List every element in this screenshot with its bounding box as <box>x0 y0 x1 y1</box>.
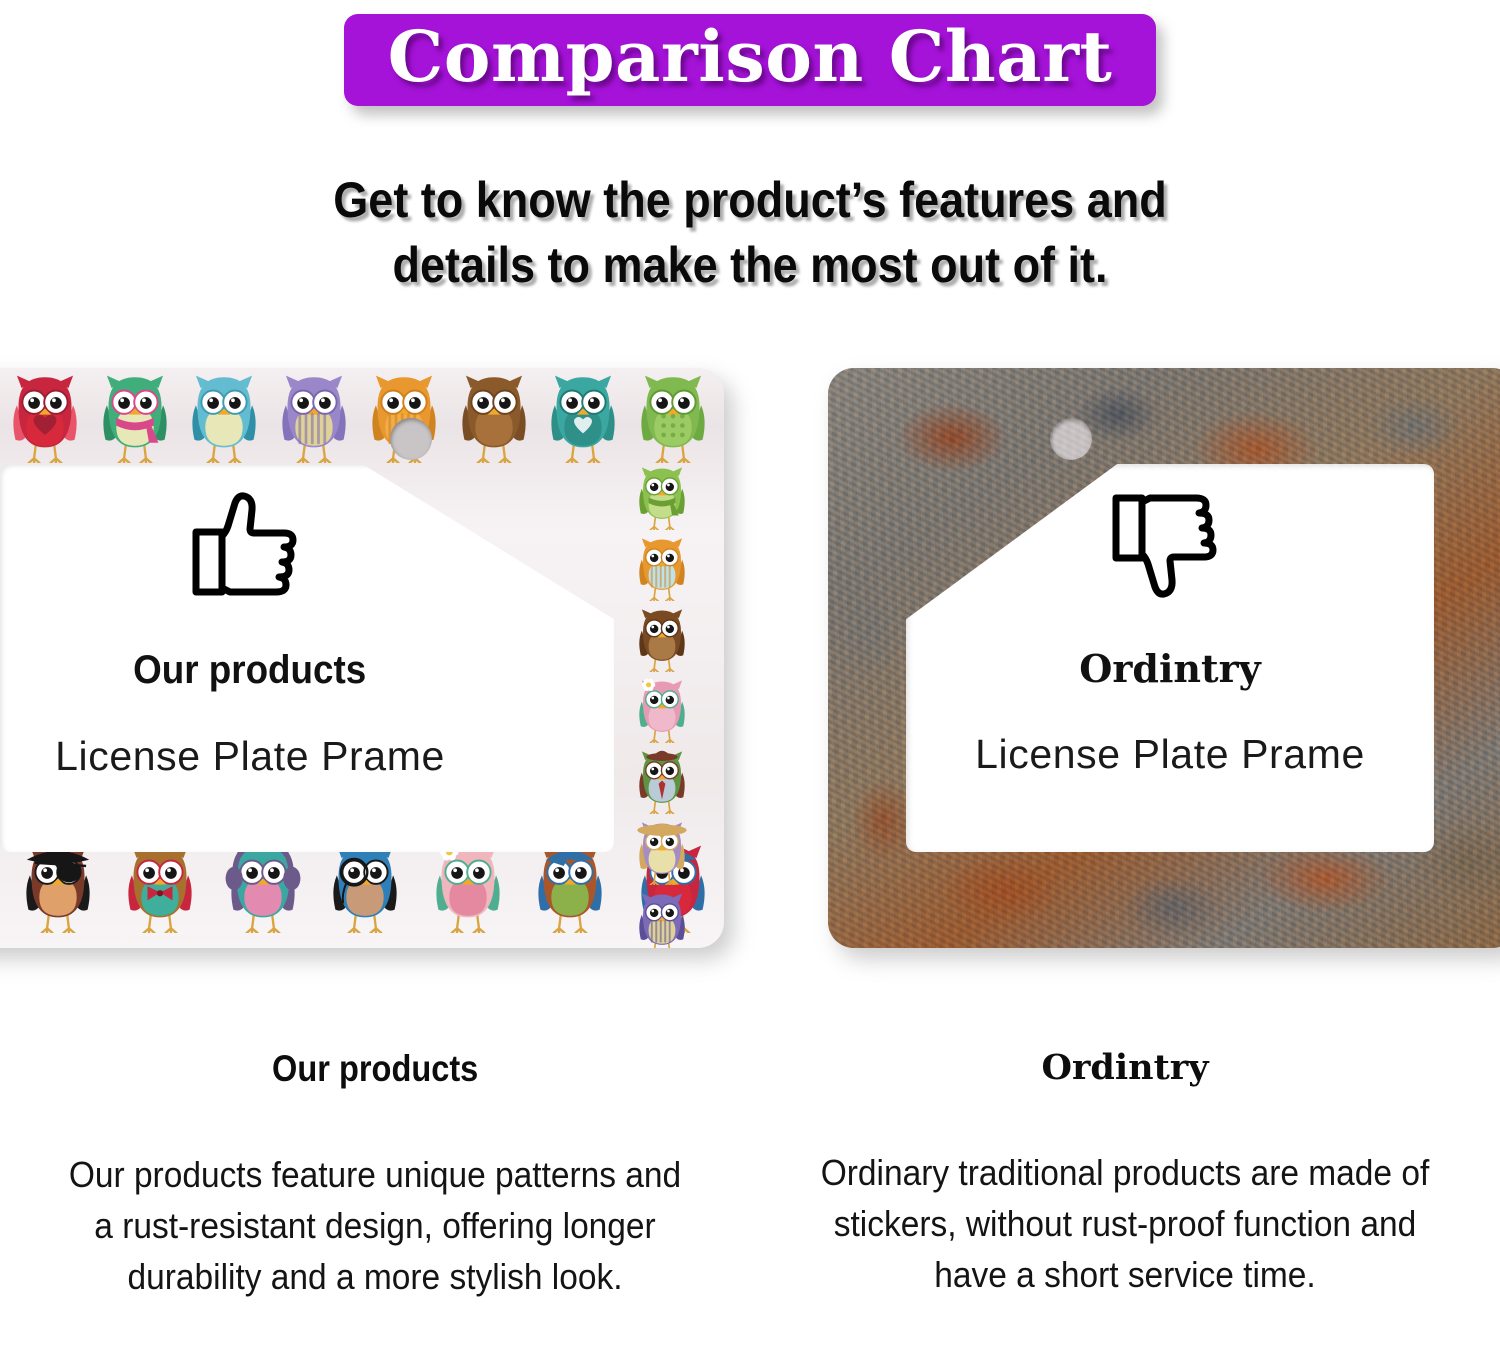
comparison-column-ordinary: Ordintry Ordinary traditional products a… <box>750 1022 1500 1364</box>
ordinary-product-frame: Ordintry License Plate Prame <box>828 368 1500 948</box>
title-banner-wrap: Comparison Chart <box>0 14 1500 106</box>
owl-icon <box>544 371 622 463</box>
our-product-content: Our products License Plate Prame <box>0 488 500 777</box>
owl-figure <box>455 371 533 468</box>
owl-figure <box>19 841 97 938</box>
page-subtitle: Get to know the product’s features and d… <box>75 168 1425 298</box>
owl-icon <box>634 819 690 885</box>
owl-figure <box>326 841 404 938</box>
owl-figure <box>634 677 690 748</box>
owl-icon <box>634 464 690 530</box>
owl-figure <box>634 819 690 890</box>
owl-figure <box>634 535 690 606</box>
owl-strip-top <box>0 376 718 468</box>
owl-figure <box>429 841 507 938</box>
our-product-line: License Plate Prame <box>55 736 445 777</box>
owl-figure <box>634 464 690 535</box>
comparison-title-ours: Our products <box>272 1050 478 1087</box>
owl-icon <box>634 748 690 814</box>
our-product-frame: Our products License Plate Prame <box>0 368 724 948</box>
comparison-text-row: Our products Our products feature unique… <box>0 1022 1500 1364</box>
owl-figure <box>531 841 609 938</box>
owl-figure <box>634 371 712 468</box>
owl-icon <box>275 371 353 463</box>
thumbs-down-icon <box>1110 488 1230 602</box>
owl-icon <box>634 371 712 463</box>
owl-figure <box>6 371 84 468</box>
owl-icon <box>121 841 199 933</box>
comparison-column-ours: Our products Our products feature unique… <box>0 1022 750 1364</box>
owl-icon <box>455 371 533 463</box>
mounting-hole <box>390 418 432 460</box>
owl-icon <box>185 371 263 463</box>
owl-figure <box>185 371 263 468</box>
subtitle-line-1: Get to know the product’s features and <box>156 168 1344 233</box>
ordinary-product-content: Ordintry License Plate Prame <box>906 488 1434 775</box>
owl-icon <box>634 677 690 743</box>
comparison-title-ordinary: Ordintry <box>1041 1050 1208 1085</box>
owl-icon <box>634 890 690 948</box>
owl-icon <box>634 535 690 601</box>
owl-figure <box>121 841 199 938</box>
owl-figure <box>275 371 353 468</box>
ordinary-product-line: License Plate Prame <box>975 734 1365 775</box>
owl-icon <box>6 371 84 463</box>
owl-figure <box>544 371 622 468</box>
owl-strip-right <box>616 464 708 854</box>
owl-figure <box>224 841 302 938</box>
owl-icon <box>429 841 507 933</box>
owl-icon <box>634 606 690 672</box>
our-brand-name: Our products <box>133 650 366 690</box>
owl-figure <box>96 371 174 468</box>
owl-icon <box>531 841 609 933</box>
owl-icon <box>19 841 97 933</box>
comparison-body-ours: Our products feature unique patterns and… <box>65 1149 684 1302</box>
title-banner: Comparison Chart <box>344 14 1157 106</box>
owl-icon <box>224 841 302 933</box>
owl-figure <box>634 890 690 948</box>
ordinary-brand-name: Ordintry <box>1079 650 1260 688</box>
thumbs-up-icon <box>190 488 310 602</box>
owl-icon <box>96 371 174 463</box>
owl-figure <box>634 748 690 819</box>
owl-figure <box>634 606 690 677</box>
comparison-body-ordinary: Ordinary traditional products are made o… <box>815 1147 1434 1300</box>
subtitle-line-2: details to make the most out of it. <box>156 233 1344 298</box>
owl-icon <box>326 841 404 933</box>
page-title: Comparison Chart <box>388 22 1113 92</box>
owl-strip-bottom <box>0 846 718 938</box>
mounting-hole <box>1050 418 1092 460</box>
